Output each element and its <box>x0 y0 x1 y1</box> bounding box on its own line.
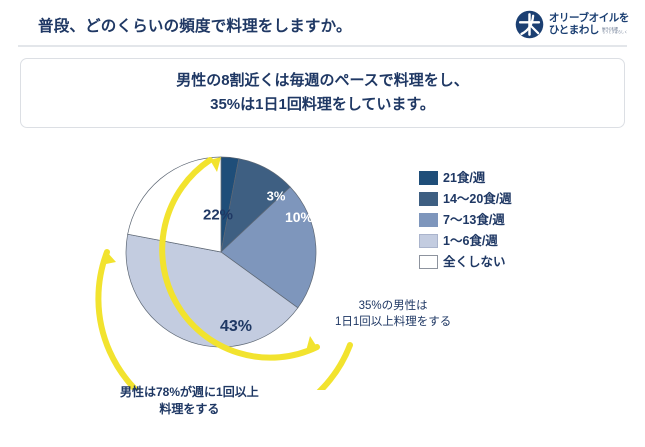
logo-line-2-row: ひとまわし 毎日の料理 もっとすばらしく <box>549 25 629 36</box>
pie-chart-svg <box>60 140 390 390</box>
legend-item-5[interactable]: 全くしない <box>419 252 512 271</box>
logo-fineprint: 毎日の料理 もっとすばらしく <box>602 28 627 35</box>
logo-line-1: オリーブオイルを <box>549 13 629 24</box>
chart-area: 3%10%22%43%22% 21食/週14〜20食/週7〜13食/週1〜6食/… <box>0 132 645 447</box>
page-title: 普段、どのくらいの頻度で料理をしますか。 <box>38 14 352 36</box>
legend-swatch-1 <box>419 171 438 185</box>
callout-line-2: 35%は1日1回料理をしています。 <box>210 95 435 115</box>
legend-swatch-5 <box>419 255 438 269</box>
annotation-35-percent: 35%の男性は 1日1回以上料理をする <box>335 298 451 330</box>
annotation-78-percent: 男性は78%が週に1回以上 料理をする <box>120 384 259 418</box>
label-7-13: 22% <box>326 244 356 261</box>
legend-label-5: 全くしない <box>443 255 506 269</box>
legend-label-2: 14〜20食/週 <box>443 192 512 206</box>
logo-wordmark: オリーブオイルを ひとまわし 毎日の料理 もっとすばらしく <box>549 13 629 36</box>
label-14-20: 10% <box>285 209 313 225</box>
olive-oil-circle-logo-icon <box>515 10 544 39</box>
logo-fineprint-2: もっとすばらしく <box>602 30 627 34</box>
chart-legend: 21食/週14〜20食/週7〜13食/週1〜6食/週全くしない <box>419 168 512 271</box>
annotation-35-line-2: 1日1回以上料理をする <box>335 314 451 330</box>
label-21: 3% <box>267 189 286 204</box>
callout-line-1: 男性の8割近くは毎週のペースで料理をし、 <box>176 71 469 91</box>
legend-item-1[interactable]: 21食/週 <box>419 168 512 187</box>
pie-chart: 3%10%22%43%22% <box>60 140 390 390</box>
legend-item-4[interactable]: 1〜6食/週 <box>419 231 512 250</box>
label-1-6: 43% <box>220 318 252 336</box>
legend-item-3[interactable]: 7〜13食/週 <box>419 210 512 229</box>
legend-swatch-4 <box>419 234 438 248</box>
brand-logo[interactable]: オリーブオイルを ひとまわし 毎日の料理 もっとすばらしく <box>515 9 629 40</box>
page-header: 普段、どのくらいの頻度で料理をしますか。 オリーブオイルを ひとまわし 毎日の料… <box>0 0 645 48</box>
summary-callout: 男性の8割近くは毎週のペースで料理をし、 35%は1日1回料理をしています。 <box>20 58 625 128</box>
legend-item-2[interactable]: 14〜20食/週 <box>419 189 512 208</box>
legend-label-1: 21食/週 <box>443 171 485 185</box>
legend-label-4: 1〜6食/週 <box>443 234 498 248</box>
header-divider <box>18 45 627 47</box>
annotation-35-line-1: 35%の男性は <box>335 298 451 314</box>
annotation-78-line-1: 男性は78%が週に1回以上 <box>120 384 259 401</box>
legend-swatch-2 <box>419 192 438 206</box>
legend-swatch-3 <box>419 213 438 227</box>
logo-line-2: ひとまわし <box>549 25 599 36</box>
label-none: 22% <box>203 207 233 224</box>
legend-label-3: 7〜13食/週 <box>443 213 505 227</box>
annotation-78-line-2: 料理をする <box>120 401 259 418</box>
